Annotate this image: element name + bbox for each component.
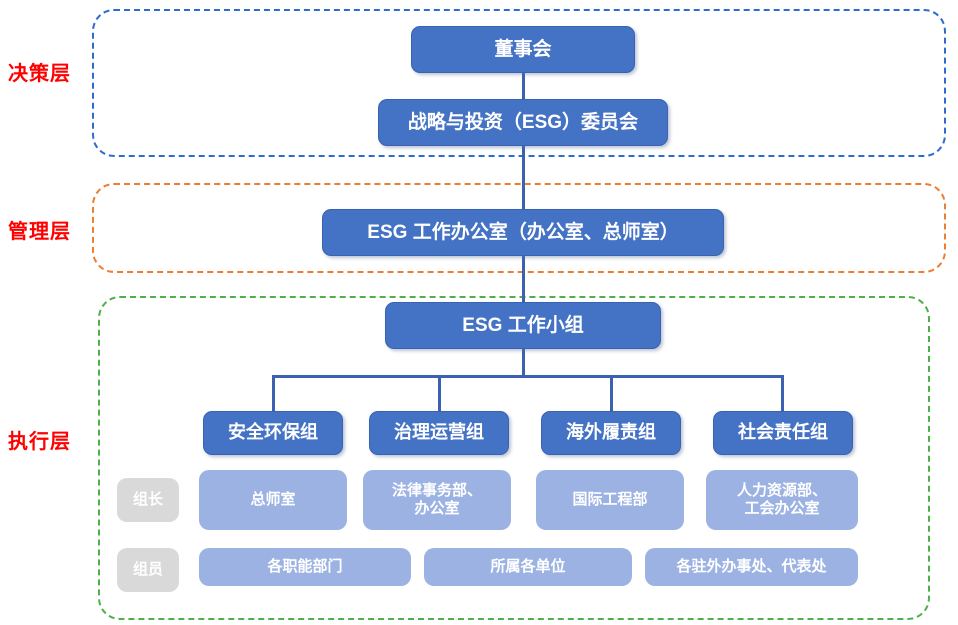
- layer-label-management: 管理层: [8, 215, 71, 244]
- row-tag-member: 组员: [117, 548, 179, 592]
- connector-board-to-committee: [522, 73, 525, 100]
- group-overseas-responsibility[interactable]: 海外履责组: [541, 411, 681, 455]
- row-tag-leader: 组长: [117, 478, 179, 522]
- connector-bus-to-group-3: [781, 375, 784, 412]
- connector-committee-to-office: [522, 146, 525, 210]
- node-esg-working-team[interactable]: ESG 工作小组: [385, 302, 661, 349]
- leader-cell-overseas-responsibility[interactable]: 国际工程部: [536, 470, 684, 530]
- node-board-of-directors[interactable]: 董事会: [411, 26, 635, 73]
- connector-bus-to-group-1: [438, 375, 441, 412]
- connector-office-to-team: [522, 256, 525, 303]
- group-social-responsibility[interactable]: 社会责任组: [713, 411, 853, 455]
- leader-cell-safety-environment[interactable]: 总师室: [199, 470, 347, 530]
- layer-label-execution: 执行层: [8, 425, 71, 454]
- member-cell-affiliated-units[interactable]: 所属各单位: [424, 548, 632, 586]
- layer-label-decision: 决策层: [8, 57, 71, 86]
- connector-team-drop: [522, 349, 525, 376]
- group-safety-environment[interactable]: 安全环保组: [203, 411, 343, 455]
- member-cell-overseas-offices[interactable]: 各驻外办事处、代表处: [645, 548, 858, 586]
- connector-horizontal-bus: [272, 375, 783, 378]
- node-strategy-investment-esg-committee[interactable]: 战略与投资（ESG）委员会: [378, 99, 668, 146]
- node-esg-working-office[interactable]: ESG 工作办公室（办公室、总师室）: [322, 209, 724, 256]
- group-governance-operation[interactable]: 治理运营组: [369, 411, 509, 455]
- org-chart-canvas: 决策层 管理层 执行层 董事会 战略与投资（ESG）委员会 ESG 工作办公室（…: [0, 0, 958, 625]
- connector-bus-to-group-0: [272, 375, 275, 412]
- leader-cell-governance-operation[interactable]: 法律事务部、 办公室: [363, 470, 511, 530]
- connector-bus-to-group-2: [610, 375, 613, 412]
- member-cell-functional-departments[interactable]: 各职能部门: [199, 548, 411, 586]
- leader-cell-social-responsibility[interactable]: 人力资源部、 工会办公室: [706, 470, 858, 530]
